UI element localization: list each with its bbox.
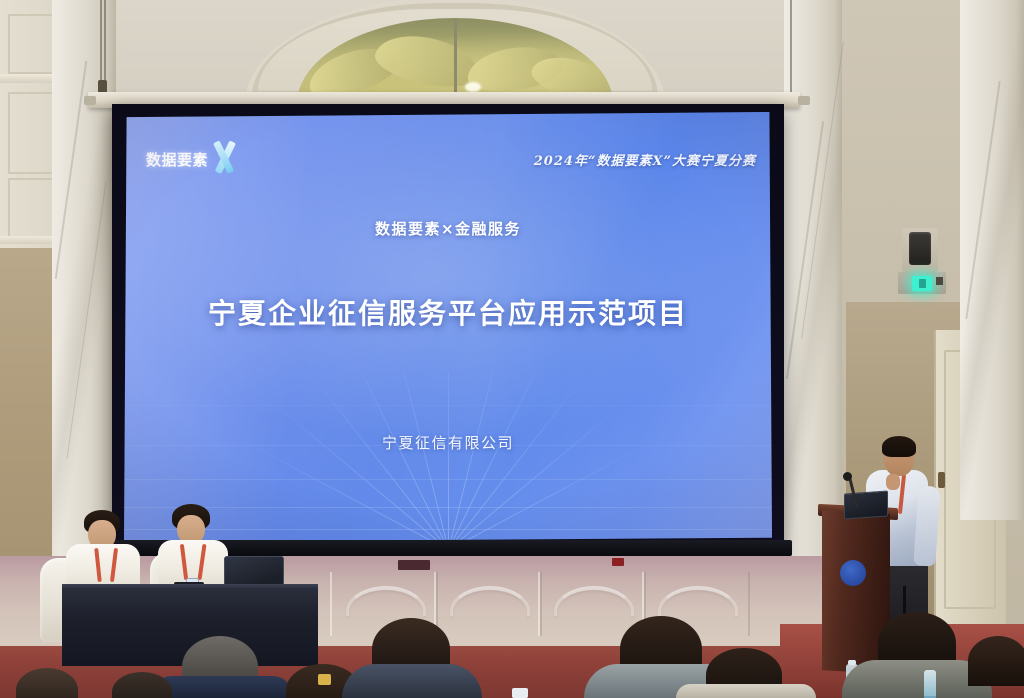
marble-pillar-far-right (960, 0, 1024, 520)
presenter-hair (882, 436, 916, 457)
slide-subtitle: 数据要素×金融服务 (124, 218, 772, 239)
housing-end-cap (84, 96, 96, 105)
conference-room-photo: 数据要素 2024年“数据要素X”大赛宁夏分赛 数据要素×金融服务 宁夏企业征信… (0, 0, 1024, 698)
water-bottle (924, 670, 936, 698)
recess-header (0, 236, 56, 244)
audience-body (676, 684, 816, 698)
slide-perspective-grid (124, 372, 772, 542)
stage-plaque (398, 560, 430, 570)
housing-end-cap (798, 96, 810, 105)
speaker-icon (909, 232, 931, 265)
slide-logo: 数据要素 (146, 142, 239, 176)
hair-clip (318, 674, 331, 685)
slide-organization: 宁夏征信有限公司 (124, 432, 772, 453)
microphone (843, 472, 852, 481)
x-mark-icon (209, 142, 239, 176)
door-knob (938, 472, 945, 488)
exit-sign-icon (898, 272, 946, 294)
presentation-slide: 数据要素 2024年“数据要素X”大赛宁夏分赛 数据要素×金融服务 宁夏企业征信… (124, 112, 772, 542)
phone (512, 688, 528, 698)
audience-body (342, 664, 482, 698)
slide-title: 宁夏企业征信服务平台应用示范项目 (124, 292, 772, 332)
presenter-hand (886, 474, 900, 490)
stage-alarm-plate (612, 558, 624, 566)
audience-head (968, 636, 1024, 686)
podium-emblem (840, 560, 866, 586)
left-doorway-recess (0, 248, 52, 578)
slide-logo-text: 数据要素 (146, 149, 208, 170)
bottle-cap (848, 660, 856, 665)
laptop (844, 490, 888, 519)
screen-drop-wire (790, 0, 792, 94)
slide-event-banner: 2024年“数据要素X”大赛宁夏分赛 (534, 150, 756, 169)
